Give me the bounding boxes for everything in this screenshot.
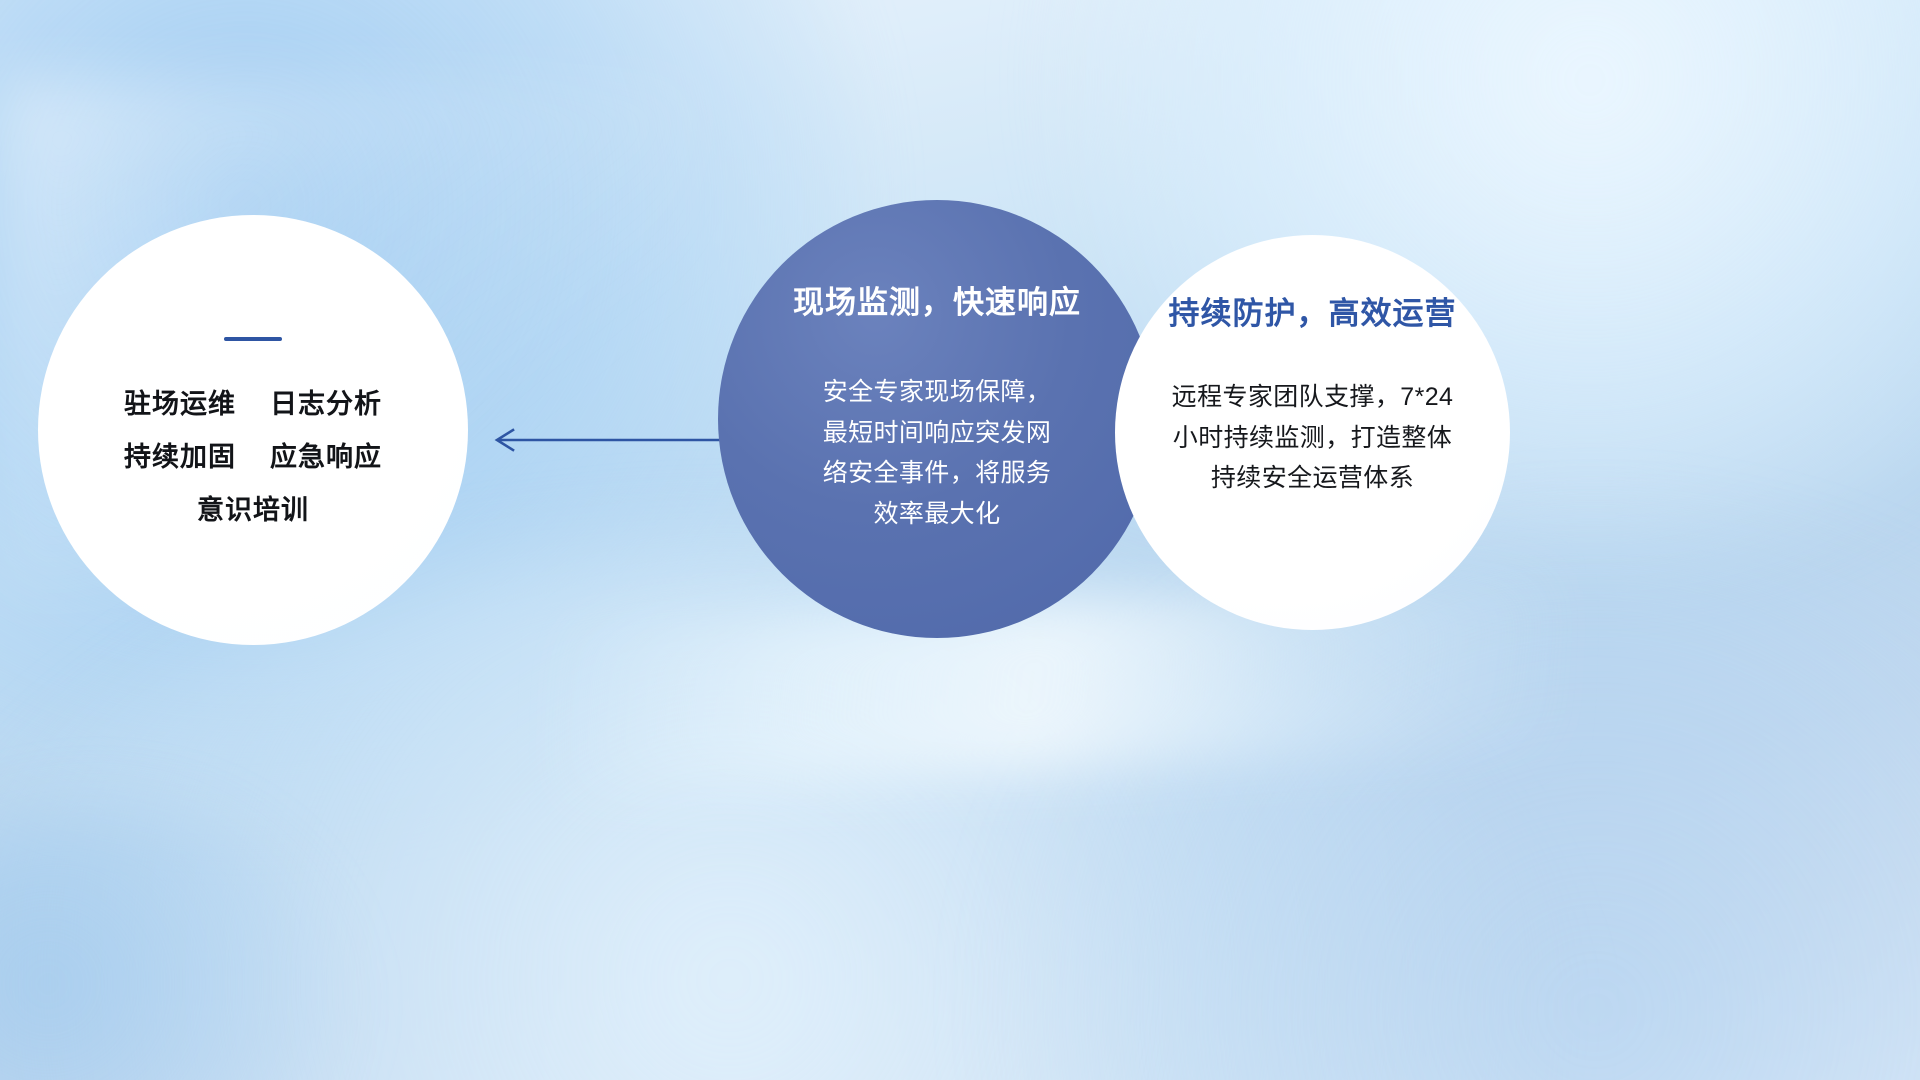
continuous-protection-title: 持续防护，高效运营: [1169, 297, 1457, 331]
capability-tag: 意识培训: [197, 497, 309, 524]
body-line: 最短时间响应突发网: [787, 413, 1087, 454]
continuous-protection-body: 远程专家团队支撑，7*24 小时持续监测，打造整体 持续安全运营体系: [1133, 377, 1493, 499]
capability-tag: 日志分析: [270, 391, 382, 418]
capability-tag: 应急响应: [270, 444, 382, 471]
body-line: 效率最大化: [787, 494, 1087, 535]
tag-row: 驻场运维 日志分析: [124, 391, 382, 418]
capability-tag-list: 驻场运维 日志分析 持续加固 应急响应 意识培训: [38, 391, 468, 524]
leftward-arrow: [485, 418, 745, 462]
onsite-monitoring-body: 安全专家现场保障， 最短时间响应突发网 络安全事件，将服务 效率最大化: [787, 372, 1087, 534]
tag-row: 持续加固 应急响应: [124, 444, 382, 471]
slide-canvas: 驻场运维 日志分析 持续加固 应急响应 意识培训 现场监测，快速响应 安全专家现…: [0, 0, 1920, 1080]
capability-tags-circle[interactable]: 驻场运维 日志分析 持续加固 应急响应 意识培训: [38, 215, 468, 645]
continuous-protection-circle[interactable]: 持续防护，高效运营 远程专家团队支撑，7*24 小时持续监测，打造整体 持续安全…: [1115, 235, 1510, 630]
onsite-monitoring-circle[interactable]: 现场监测，快速响应 安全专家现场保障， 最短时间响应突发网 络安全事件，将服务 …: [718, 200, 1156, 638]
onsite-monitoring-title: 现场监测，快速响应: [793, 286, 1081, 320]
body-line: 安全专家现场保障，: [787, 372, 1087, 413]
tag-row: 意识培训: [197, 497, 309, 524]
capability-tag: 持续加固: [124, 444, 236, 471]
body-line: 远程专家团队支撑，7*24: [1133, 377, 1493, 418]
body-line: 小时持续监测，打造整体: [1133, 418, 1493, 459]
body-line: 络安全事件，将服务: [787, 453, 1087, 494]
horizontal-dash-icon: [224, 337, 282, 341]
body-line: 持续安全运营体系: [1133, 458, 1493, 499]
capability-tag: 驻场运维: [124, 391, 236, 418]
